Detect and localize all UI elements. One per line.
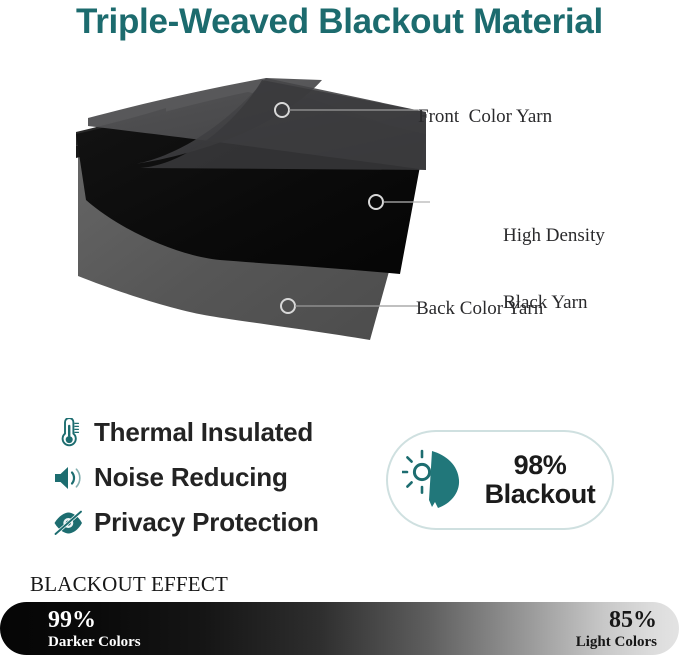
callout-label-back: Back Color Yarn [416, 298, 543, 320]
feature-item-noise: Noise Reducing [48, 455, 348, 500]
feature-label-noise: Noise Reducing [94, 462, 288, 493]
gradient-bar-right-stat: 85% Light Colors [576, 608, 657, 651]
badge-percent: 98% [514, 450, 567, 480]
feature-item-thermal: Thermal Insulated [48, 410, 348, 455]
fabric-layers-diagram [70, 78, 430, 353]
gradient-bar-left-stat: 99% Darker Colors [48, 608, 141, 651]
blackout-effect-heading: BLACKOUT EFFECT [30, 572, 228, 597]
feature-label-privacy: Privacy Protection [94, 507, 319, 538]
callout-label-middle-line1: High Density [503, 225, 605, 247]
page-title: Triple-Weaved Blackout Material [0, 2, 679, 42]
badge-text: 98% Blackout [474, 451, 612, 509]
gradient-bar-right-percent: 85% [576, 608, 657, 633]
speaker-icon [48, 460, 88, 496]
blackout-effect-gradient-bar: 99% Darker Colors 85% Light Colors [0, 602, 679, 655]
thermometer-icon [48, 415, 88, 451]
gradient-bar-right-caption: Light Colors [576, 633, 657, 651]
sun-blocked-icon [388, 449, 474, 511]
badge-caption: Blackout [485, 479, 596, 509]
gradient-bar-left-percent: 99% [48, 608, 141, 633]
feature-label-thermal: Thermal Insulated [94, 417, 313, 448]
callout-label-front: Front Color Yarn [418, 106, 552, 128]
feature-item-privacy: Privacy Protection [48, 500, 348, 545]
eye-slash-icon [48, 505, 88, 541]
feature-list: Thermal Insulated Noise Reducing Privacy… [48, 410, 348, 545]
blackout-badge: 98% Blackout [386, 430, 614, 530]
gradient-bar-left-caption: Darker Colors [48, 633, 141, 651]
